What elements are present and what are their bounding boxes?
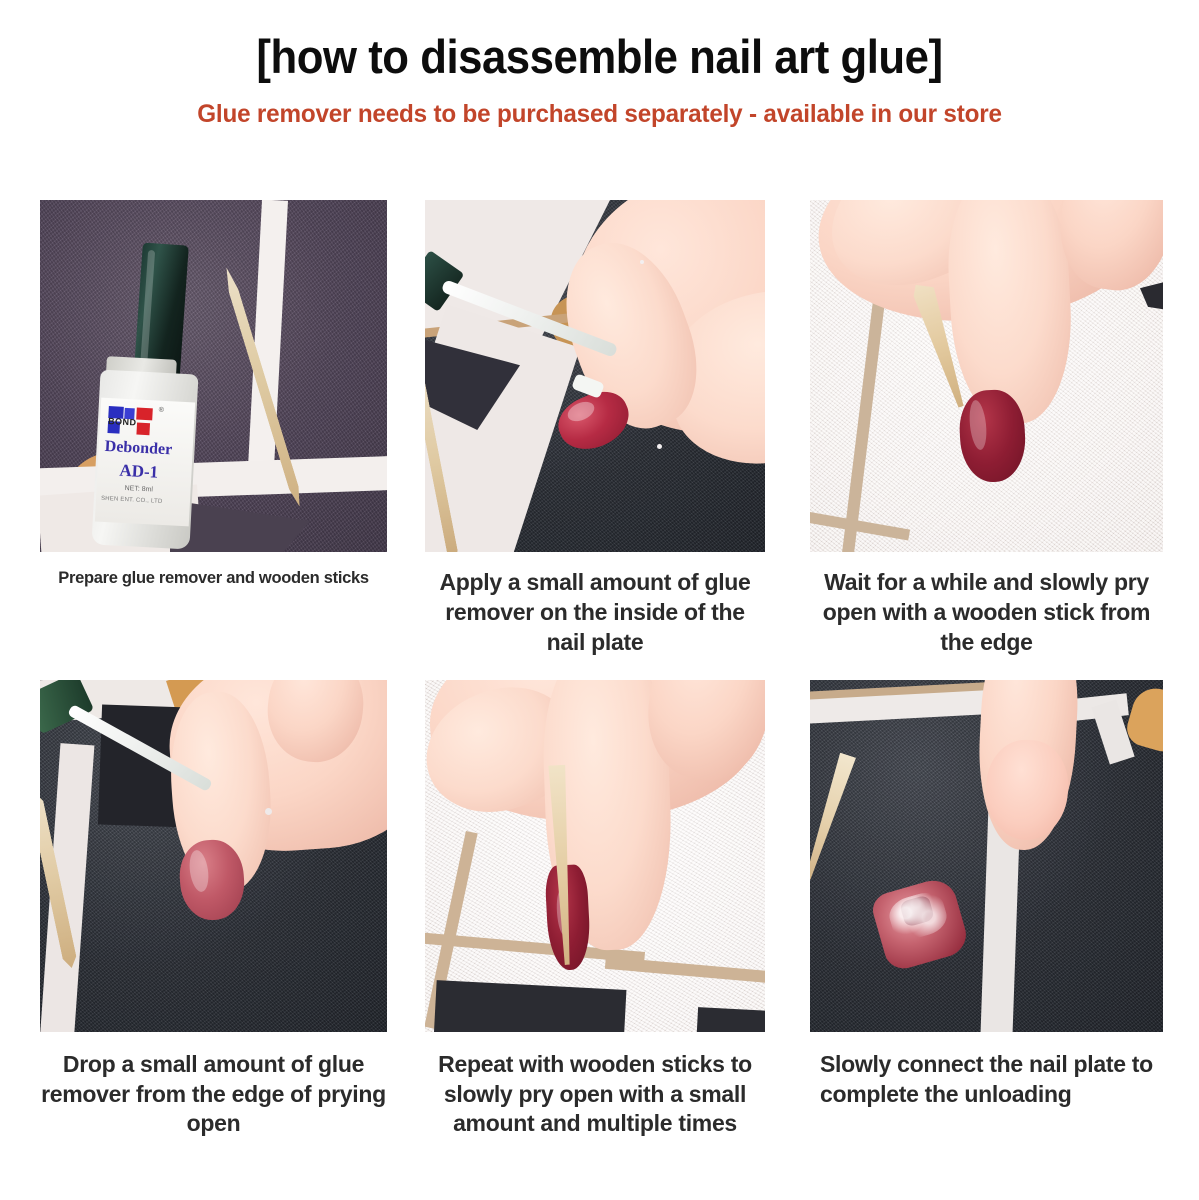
bottle-net-text: NET: 8ml	[124, 485, 153, 493]
step-image-2	[425, 200, 765, 552]
bottle-label: ® BOND Debonder AD-1 NET: 8ml SHEN ENT. …	[95, 398, 195, 527]
step-image-3	[810, 200, 1163, 552]
registered-mark: ®	[159, 407, 165, 414]
steps-row-top: ® BOND Debonder AD-1 NET: 8ml SHEN ENT. …	[0, 200, 1199, 658]
step-card-1: ® BOND Debonder AD-1 NET: 8ml SHEN ENT. …	[40, 200, 387, 589]
step-image-5	[425, 680, 765, 1032]
step-card-4: Drop a small amount of glue remover from…	[40, 680, 387, 1140]
speck	[640, 260, 644, 264]
header: [how to disassemble nail art glue] Glue …	[0, 0, 1199, 129]
dark-patch	[696, 1007, 765, 1032]
step-image-1: ® BOND Debonder AD-1 NET: 8ml SHEN ENT. …	[40, 200, 387, 552]
step-caption-3: Wait for a while and slowly pry open wit…	[810, 568, 1163, 658]
dark-patch	[434, 980, 627, 1032]
page-subtitle: Glue remover needs to be purchased separ…	[18, 100, 1181, 129]
steps-grid: ® BOND Debonder AD-1 NET: 8ml SHEN ENT. …	[0, 200, 1199, 1139]
bottle-code-text: AD-1	[119, 461, 159, 483]
bottle-company-text: SHEN ENT. CO., LTD	[101, 496, 163, 505]
infographic-page: [how to disassemble nail art glue] Glue …	[0, 0, 1199, 1200]
step-caption-4: Drop a small amount of glue remover from…	[40, 1050, 387, 1140]
step-caption-1: Prepare glue remover and wooden sticks	[40, 568, 387, 589]
speck	[657, 444, 662, 449]
step-card-6: Slowly connect the nail plate to complet…	[810, 680, 1163, 1110]
speck	[265, 808, 272, 815]
step-image-4	[40, 680, 387, 1032]
step-caption-2: Apply a small amount of glue remover on …	[425, 568, 765, 658]
step-caption-6: Slowly connect the nail plate to complet…	[810, 1050, 1163, 1110]
step-card-5: Repeat with wooden sticks to slowly pry …	[425, 680, 765, 1140]
page-title: [how to disassemble nail art glue]	[42, 30, 1157, 84]
steps-row-bottom: Drop a small amount of glue remover from…	[0, 680, 1199, 1140]
step-card-3: Wait for a while and slowly pry open wit…	[810, 200, 1163, 658]
bottle-product-text: Debonder	[104, 438, 172, 460]
step-caption-5: Repeat with wooden sticks to slowly pry …	[425, 1050, 765, 1140]
step-card-2: Apply a small amount of glue remover on …	[425, 200, 765, 658]
bottle-brand-text: BOND	[108, 416, 137, 427]
step-image-6	[810, 680, 1163, 1032]
